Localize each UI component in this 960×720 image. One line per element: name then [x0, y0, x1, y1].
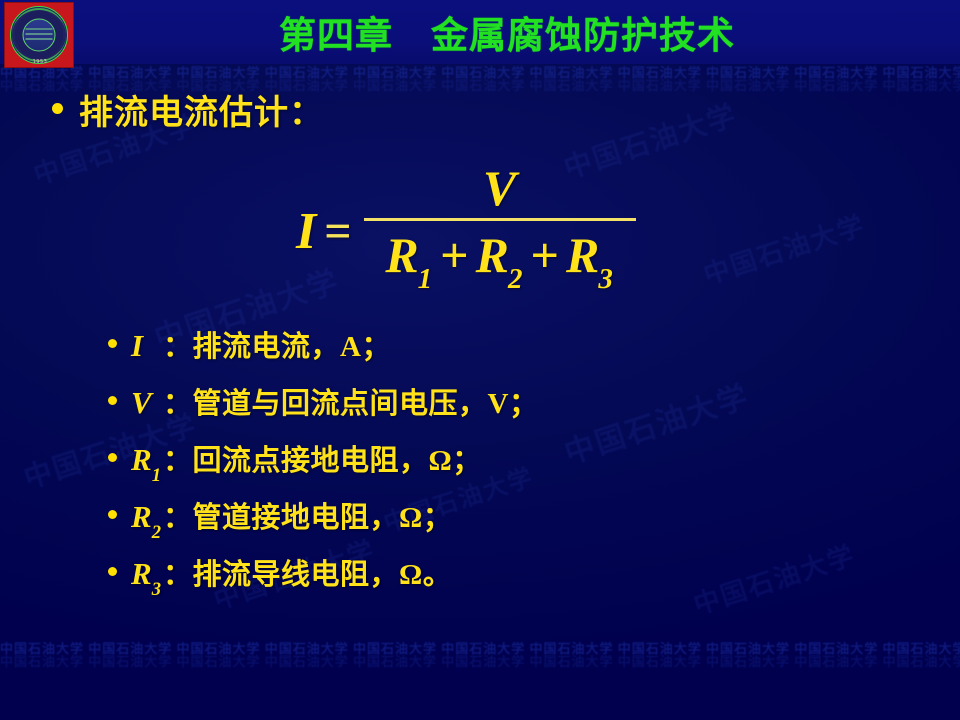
list-item: V ：管道与回流点间电压，V；	[108, 380, 539, 437]
list-item: R1 ：回流点接地电阻，Ω；	[108, 437, 539, 494]
list-item: R3 ：排流导线电阻，Ω。	[108, 551, 539, 608]
definition-unit: Ω	[399, 502, 423, 534]
slide-canvas: 中国石油大学 中国石油大学 中国石油大学 中国石油大学 中国石油大学 中国石油大…	[0, 0, 960, 720]
definition-symbol: R2	[131, 499, 161, 540]
definition-symbol: I	[131, 328, 161, 369]
heading: 排流电流估计：	[52, 93, 324, 133]
formula-den-sub-1: 1	[418, 263, 433, 295]
definition-body: 管道接地电阻，	[193, 500, 400, 534]
symbol-base: R	[131, 499, 152, 534]
definition-colon: ：	[163, 500, 193, 534]
definition-body: 排流导线电阻，	[193, 557, 400, 591]
formula-equals: =	[322, 208, 363, 256]
university-logo: 1953	[4, 2, 74, 68]
definition-body: 回流点接地电阻，	[193, 443, 429, 477]
definition-colon: ：	[163, 386, 193, 420]
definition-unit: Ω	[399, 559, 423, 591]
formula-den-term-3: R	[566, 227, 599, 283]
symbol-base: I	[131, 328, 143, 363]
definition-symbol: R3	[131, 556, 161, 597]
slide-content: 排流电流估计： I = V R1+R2+R3 I ：排流电流，A；	[0, 0, 960, 720]
formula-den-term-1: R	[385, 227, 418, 283]
definition-description: ：管道接地电阻，Ω；	[161, 494, 452, 536]
symbol-base: R	[131, 556, 152, 591]
formula-fraction: V R1+R2+R3	[364, 160, 636, 304]
bullet-dot-icon	[108, 453, 117, 462]
footer-bar: 上页 下页 返回 回主目录 2020/6/30 315	[0, 668, 960, 720]
definition-colon: ：	[163, 557, 193, 591]
definition-terminator: ；	[509, 386, 539, 420]
formula-den-term-2: R	[476, 227, 509, 283]
bullet-dot-icon	[52, 103, 63, 114]
bullet-dot-icon	[108, 396, 117, 405]
definition-terminator: ；	[452, 443, 482, 477]
definition-symbol: V	[131, 385, 161, 426]
symbol-subscript: 1	[152, 465, 161, 486]
definition-colon: ：	[163, 329, 193, 363]
definition-unit: V	[488, 388, 509, 420]
definition-terminator: 。	[423, 557, 453, 591]
bullet-dot-icon	[108, 339, 117, 348]
definition-description: ：排流导线电阻，Ω。	[161, 551, 452, 593]
bullet-dot-icon	[108, 567, 117, 576]
page-title: 第四章 金属腐蚀防护技术	[0, 0, 960, 64]
definition-description: ：排流电流，A；	[161, 323, 391, 365]
formula-numerator: V	[473, 160, 526, 218]
definition-body: 管道与回流点间电压，	[193, 386, 488, 420]
formula-den-sub-2: 2	[508, 263, 523, 295]
seal-globe-icon	[23, 19, 56, 52]
definition-terminator: ；	[423, 500, 453, 534]
definition-terminator: ；	[361, 329, 391, 363]
definition-body: 排流电流，	[193, 329, 341, 363]
definition-list: I ：排流电流，A； V ：管道与回流点间电压，V； R1 ：回流点接地电阻，Ω…	[108, 323, 539, 608]
list-item: R2 ：管道接地电阻，Ω；	[108, 494, 539, 551]
formula-lhs: I	[296, 206, 322, 258]
seal-icon	[10, 6, 68, 64]
list-item: I ：排流电流，A；	[108, 323, 539, 380]
formula-den-sub-3: 3	[598, 263, 613, 295]
formula-den-op-2: +	[524, 227, 567, 283]
definition-description: ：回流点接地电阻，Ω；	[161, 437, 482, 479]
bullet-dot-icon	[108, 510, 117, 519]
symbol-base: V	[131, 385, 152, 420]
definition-unit: A	[340, 331, 361, 363]
heading-label: 排流电流估计：	[79, 93, 324, 133]
formula-den-op-1: +	[433, 227, 476, 283]
definition-colon: ：	[163, 443, 193, 477]
symbol-subscript: 2	[152, 522, 161, 543]
definition-unit: Ω	[429, 445, 453, 477]
definition-symbol: R1	[131, 442, 161, 483]
formula-denominator: R1+R2+R3	[377, 221, 622, 304]
definition-description: ：管道与回流点间电压，V；	[161, 380, 539, 422]
symbol-subscript: 3	[152, 579, 161, 600]
symbol-base: R	[131, 442, 152, 477]
formula-drainage-current: I = V R1+R2+R3	[296, 160, 636, 304]
logo-year: 1953	[5, 59, 74, 65]
